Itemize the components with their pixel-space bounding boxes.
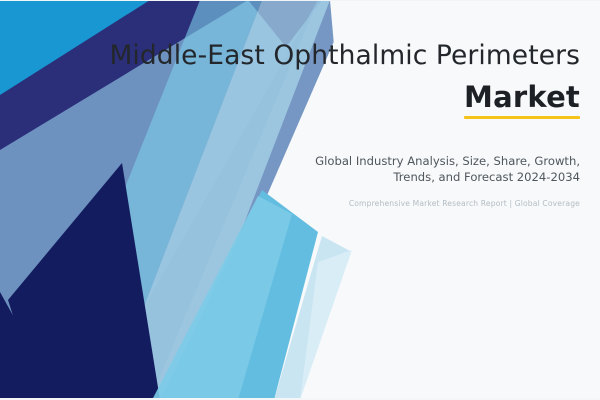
cover-text-layer: Middle-East Ophthalmic Perimeters Market… [0,0,600,400]
page-title: Middle-East Ophthalmic Perimeters [20,40,580,71]
subtitle-line-1: Global Industry Analysis, Size, Share, G… [315,154,580,168]
market-title-group: Market [464,82,580,119]
title-accent-rule [464,116,580,119]
report-caption: Comprehensive Market Research Report | G… [250,199,580,208]
subtitle-line-2: Trends, and Forecast 2024-2034 [393,170,580,184]
subtitle: Global Industry Analysis, Size, Share, G… [280,153,580,186]
page-title-market: Market [464,82,580,112]
report-cover: Middle-East Ophthalmic Perimeters Market… [0,0,600,400]
